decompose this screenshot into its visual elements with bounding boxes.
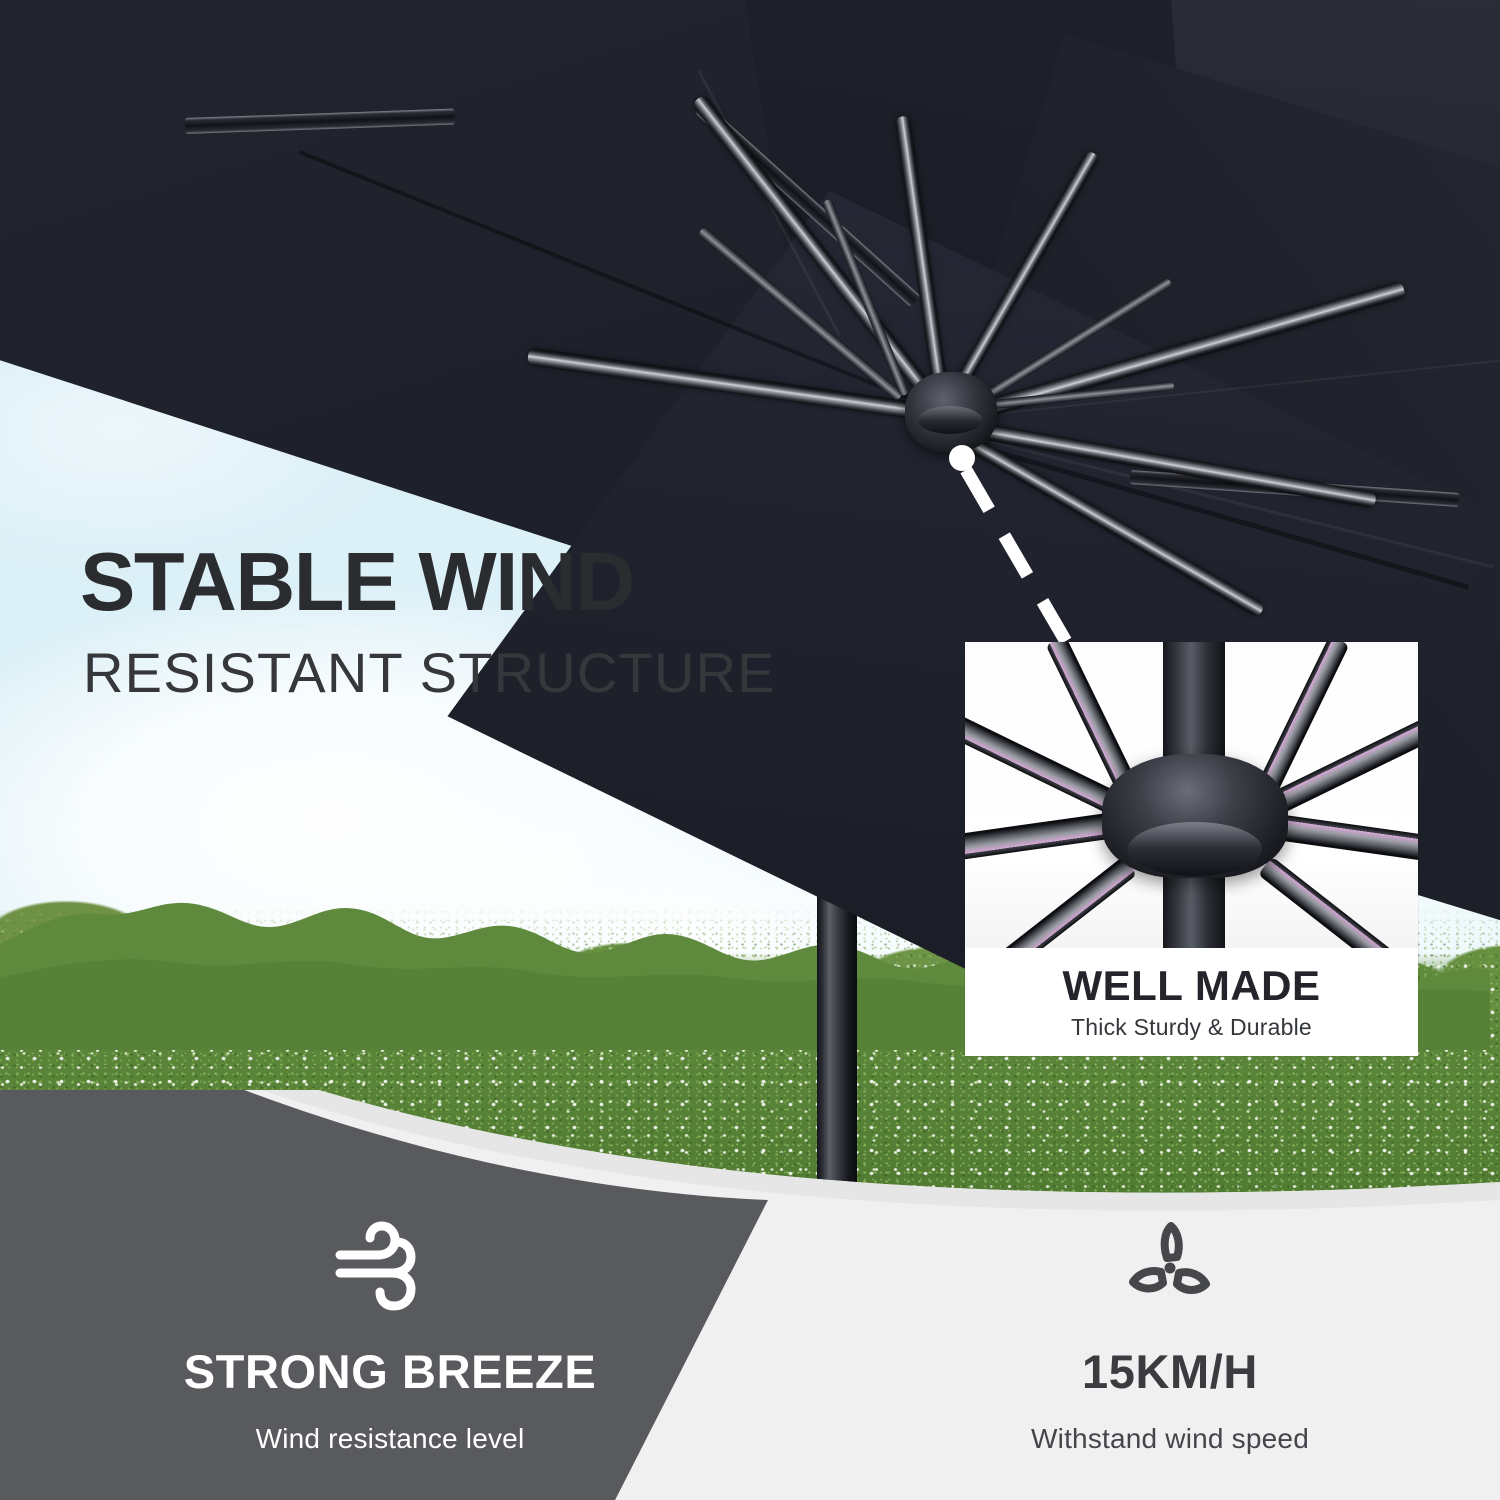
headline-block: STABLE WIND RESISTANT STRUCTURE bbox=[80, 540, 776, 701]
inset-rib bbox=[1258, 856, 1418, 952]
inset-title: WELL MADE bbox=[1062, 965, 1320, 1007]
headline-secondary: RESISTANT STRUCTURE bbox=[83, 645, 776, 701]
inset-rib bbox=[1275, 814, 1418, 872]
inset-callout-panel: WELL MADE Thick Sturdy & Durable bbox=[965, 642, 1418, 1056]
feature-title: 15KM/H bbox=[900, 1348, 1440, 1395]
inset-rib bbox=[965, 856, 1137, 952]
umbrella-hub-ring bbox=[918, 406, 982, 434]
product-feature-graphic: WELL MADE Thick Sturdy & Durable STABLE … bbox=[0, 0, 1500, 1500]
feature-wind-speed: 15KM/H Withstand wind speed bbox=[900, 1218, 1440, 1453]
inset-caption: WELL MADE Thick Sturdy & Durable bbox=[965, 948, 1418, 1056]
headline-primary: STABLE WIND bbox=[80, 540, 776, 623]
inset-subtitle: Thick Sturdy & Durable bbox=[1071, 1016, 1312, 1039]
feature-subtitle: Withstand wind speed bbox=[900, 1425, 1440, 1453]
callout-dot-icon bbox=[949, 445, 975, 471]
inset-rib bbox=[965, 812, 1117, 870]
inset-photo-hub-closeup bbox=[965, 642, 1418, 952]
inset-hub-ring bbox=[1128, 822, 1262, 876]
wind-icon bbox=[110, 1218, 670, 1314]
feature-strong-breeze: STRONG BREEZE Wind resistance level bbox=[110, 1218, 670, 1453]
fan-propeller-icon bbox=[900, 1218, 1440, 1314]
feature-title: STRONG BREEZE bbox=[110, 1348, 670, 1395]
feature-subtitle: Wind resistance level bbox=[110, 1425, 670, 1453]
